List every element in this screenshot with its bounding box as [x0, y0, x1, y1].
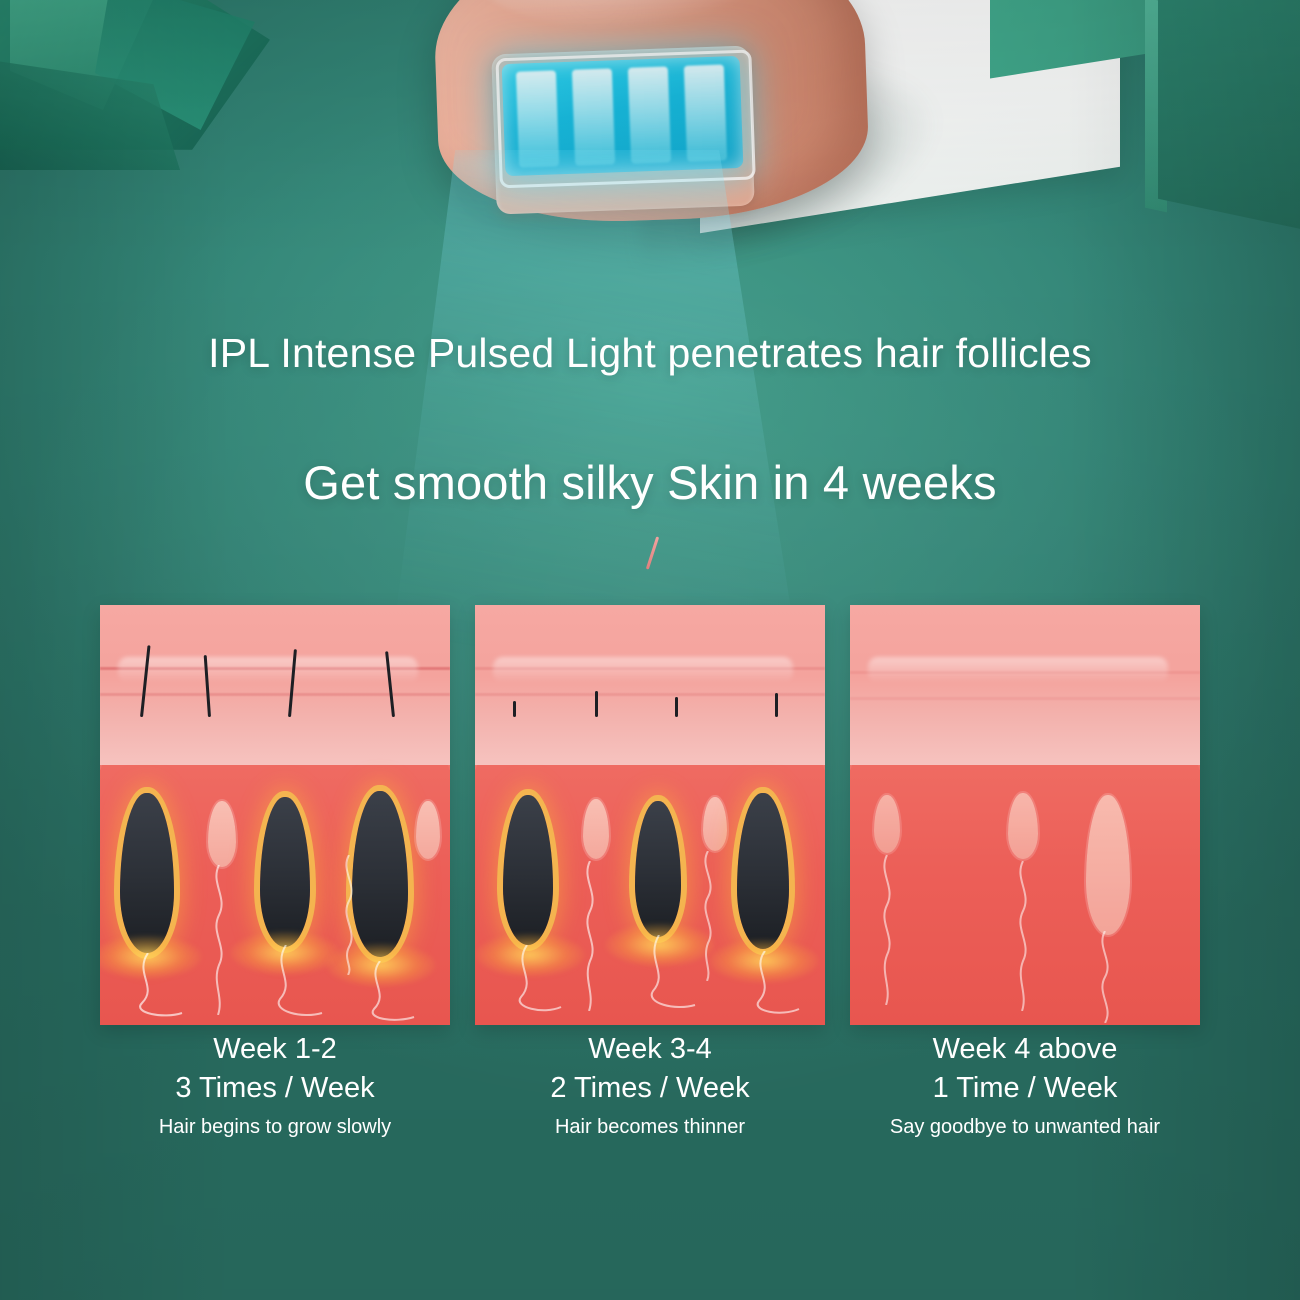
nerve-squiggle [876, 855, 898, 1005]
nerve-squiggle [1012, 861, 1034, 1011]
caption-frequency: 1 Time / Week [850, 1068, 1200, 1108]
caption-note: Say goodbye to unwanted hair [850, 1112, 1200, 1142]
root-tail [266, 945, 356, 1023]
caption-week-label: Week 4 above [850, 1030, 1200, 1068]
panel-week-3-4 [475, 605, 825, 1025]
caption-frequency: 2 Times / Week [475, 1068, 825, 1108]
caption-week-label: Week 3-4 [475, 1030, 825, 1068]
caption-week-label: Week 1-2 [100, 1030, 450, 1068]
promo-image: IPL Intense Pulsed Light penetrates hair… [0, 0, 1300, 1300]
caption-week-1-2: Week 1-2 3 Times / Week Hair begins to g… [100, 1030, 450, 1142]
nerve-squiggle [1094, 931, 1116, 1023]
skin-glass-highlight [868, 657, 1168, 683]
caption-row: Week 1-2 3 Times / Week Hair begins to g… [100, 1030, 1200, 1142]
skin-glass-highlight [118, 657, 418, 683]
root-tail [639, 935, 729, 1015]
headline-secondary: Get smooth silky Skin in 4 weeks [0, 455, 1300, 510]
caption-note: Hair becomes thinner [475, 1112, 825, 1142]
root-tail [358, 961, 448, 1025]
root-tail [124, 953, 214, 1023]
skin-surface [475, 605, 825, 765]
skin-glass-highlight [493, 657, 793, 683]
skin-surface [100, 605, 450, 765]
skin-surface [850, 605, 1200, 765]
root-tail [743, 951, 825, 1021]
caption-week-4-above: Week 4 above 1 Time / Week Say goodbye t… [850, 1030, 1200, 1142]
headline-primary: IPL Intense Pulsed Light penetrates hair… [0, 330, 1300, 377]
panel-week-4-above [850, 605, 1200, 1025]
caption-frequency: 3 Times / Week [100, 1068, 450, 1108]
caption-week-3-4: Week 3-4 2 Times / Week Hair becomes thi… [475, 1030, 825, 1142]
caption-note: Hair begins to grow slowly [100, 1112, 450, 1142]
root-tail [505, 945, 595, 1019]
panel-week-1-2 [100, 605, 450, 1025]
panel-row [100, 605, 1200, 1025]
